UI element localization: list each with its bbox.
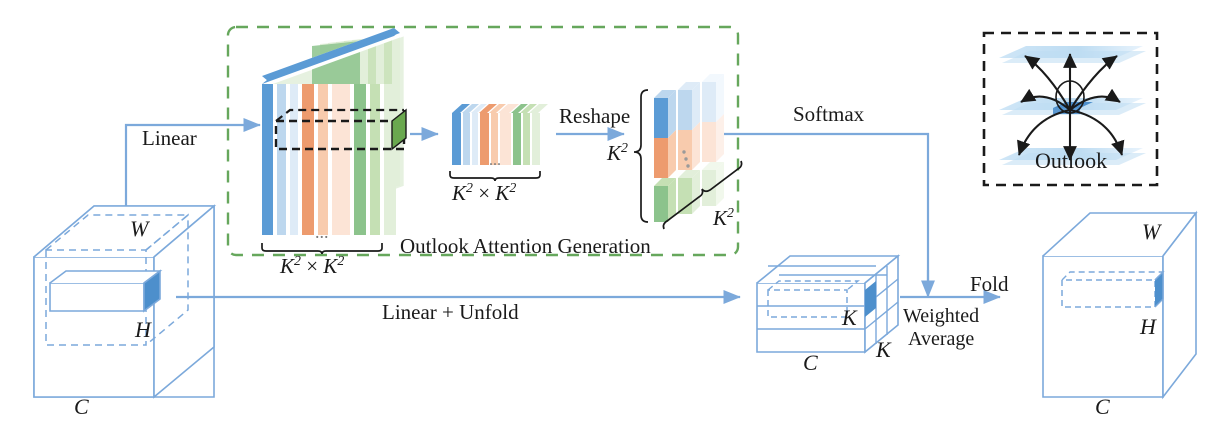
slice-sup-right: 2	[509, 180, 516, 195]
input-dim-H: H	[135, 317, 151, 343]
input-feature-cube	[34, 206, 214, 397]
slice-ellipsis: ...	[489, 152, 501, 170]
attention-box-caption: Outlook Attention Generation	[400, 234, 651, 259]
slab-times: ×	[306, 254, 318, 278]
slice-sup-left: 2	[466, 180, 473, 195]
label-reshape: Reshape	[559, 104, 630, 129]
attention-weight-slab	[262, 28, 414, 254]
slice-times: ×	[478, 181, 490, 205]
reshape-row-label: K2	[607, 140, 628, 166]
reshape-col-label: K2	[713, 205, 734, 231]
input-dim-W: W	[130, 216, 148, 242]
slab-ellipsis: ...	[315, 222, 329, 243]
value-dim-K-side: K	[876, 337, 891, 363]
label-fold: Fold	[970, 272, 1009, 297]
slab-bracket-label: K2 × K2	[280, 253, 344, 279]
output-feature-cube	[1043, 213, 1196, 397]
reshape-row-sup: 2	[621, 140, 628, 155]
value-dim-C: C	[803, 350, 818, 376]
slice-k-left: K	[452, 181, 466, 205]
slab-sup-left: 2	[294, 253, 301, 268]
label-softmax: Softmax	[793, 102, 864, 127]
slab-front-bands	[262, 84, 396, 235]
label-average: Average	[908, 328, 974, 351]
value-dim-K-front: K	[842, 305, 857, 331]
label-linear-unfold: Linear + Unfold	[382, 300, 519, 325]
reshape-row-k: K	[607, 141, 621, 165]
output-dim-C: C	[1095, 394, 1110, 420]
slice-bracket-label: K2 × K2	[452, 180, 516, 206]
reshape-col-k: K	[713, 206, 727, 230]
output-dim-W: W	[1142, 219, 1160, 245]
diagram-svg	[0, 0, 1207, 422]
slab-k-left: K	[280, 254, 294, 278]
outlook-caption: Outlook	[1035, 148, 1107, 174]
label-linear: Linear	[142, 126, 197, 151]
reshape-col-sup: 2	[727, 205, 734, 220]
input-dim-C: C	[74, 394, 89, 420]
figure-canvas: Linear Reshape Softmax Linear + Unfold F…	[0, 0, 1207, 422]
output-dim-H: H	[1140, 314, 1156, 340]
slab-sup-right: 2	[337, 253, 344, 268]
label-weighted: Weighted	[903, 305, 979, 328]
slab-k-right: K	[323, 254, 337, 278]
slice-k-right: K	[495, 181, 509, 205]
